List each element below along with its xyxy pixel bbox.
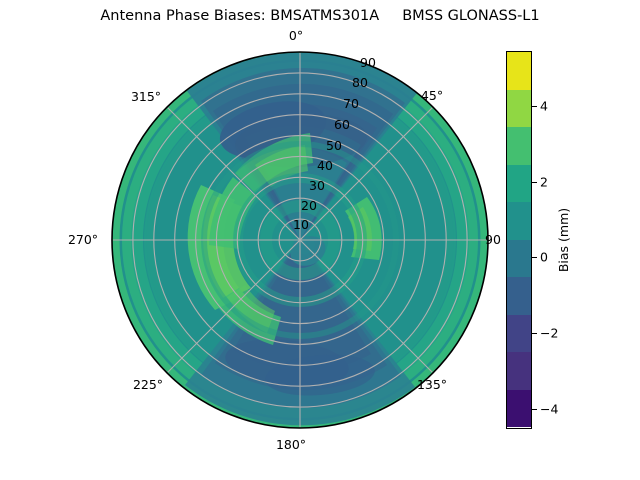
figure-title: Antenna Phase Biases: BMSATMS301A BMSS G… [0,8,640,24]
colorbar-tick-neg4-label: −4 [540,402,558,417]
colorbar-tick-0 [532,257,537,258]
radial-label-80: 80 [349,75,371,90]
colorbar-band [507,240,531,278]
colorbar: 420−2−4 [506,51,532,429]
colorbar-tick-2-label: 2 [540,175,548,190]
colorbar-tick-4 [532,106,537,107]
colorbar-band [507,52,531,90]
colorbar-gradient [506,51,532,429]
matplotlib-figure: Antenna Phase Biases: BMSATMS301A BMSS G… [0,0,640,480]
colorbar-band [507,90,531,128]
radial-label-10: 10 [290,217,312,232]
colorbar-axis-label: Bias (mm) [556,208,571,272]
colorbar-band [507,165,531,203]
angular-label-90: 90 [485,232,507,247]
polar-grid [112,52,488,428]
radial-label-30: 30 [306,178,328,193]
colorbar-band [507,127,531,165]
colorbar-tick-neg4 [532,409,537,410]
colorbar-tick-2 [532,182,537,183]
angular-label-180: 180° [270,437,312,452]
colorbar-band [507,277,531,315]
angular-label-270: 270° [62,232,104,247]
angular-label-0: 0° [283,28,309,43]
angular-label-135: 135° [411,377,453,392]
radial-label-90: 90 [357,55,379,70]
colorbar-tick-neg2-label: −2 [540,326,558,341]
radial-label-50: 50 [323,138,345,153]
radial-label-20: 20 [298,198,320,213]
radial-label-60: 60 [331,117,353,132]
colorbar-tick-0-label: 0 [540,250,548,265]
colorbar-band [507,390,531,428]
angular-label-225: 225° [127,377,169,392]
radial-label-40: 40 [314,158,336,173]
radial-label-70: 70 [340,96,362,111]
angular-label-315: 315° [125,89,167,104]
colorbar-tick-neg2 [532,333,537,334]
colorbar-band [507,352,531,390]
angular-label-45: 45° [415,88,449,103]
colorbar-tick-4-label: 4 [540,99,548,114]
colorbar-band [507,202,531,240]
colorbar-band [507,315,531,353]
